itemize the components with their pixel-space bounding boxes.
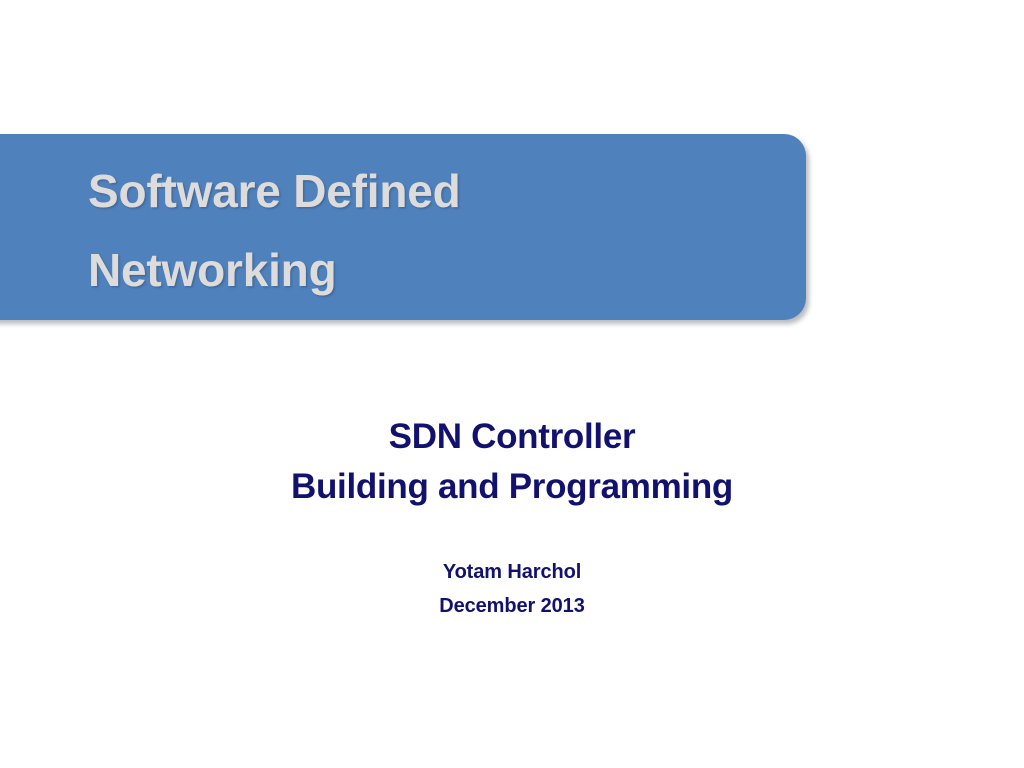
presentation-slide: Software Defined Networking SDN Controll… xyxy=(0,0,1024,768)
slide-title-line-1: Software Defined xyxy=(88,152,780,231)
slide-subtitle: SDN Controller Building and Programming xyxy=(0,412,1024,511)
subtitle-line-1: SDN Controller xyxy=(0,412,1024,462)
subtitle-line-2: Building and Programming xyxy=(0,462,1024,512)
slide-title-line-2: Networking xyxy=(88,231,780,310)
byline-block: Yotam Harchol December 2013 xyxy=(0,556,1024,623)
slide-title: Software Defined Networking xyxy=(88,152,780,310)
slide-byline: Yotam Harchol December 2013 xyxy=(0,556,1024,623)
byline-date: December 2013 xyxy=(0,590,1024,624)
byline-author: Yotam Harchol xyxy=(0,556,1024,590)
title-banner: Software Defined Networking xyxy=(0,134,806,320)
subtitle-block: SDN Controller Building and Programming xyxy=(0,412,1024,511)
